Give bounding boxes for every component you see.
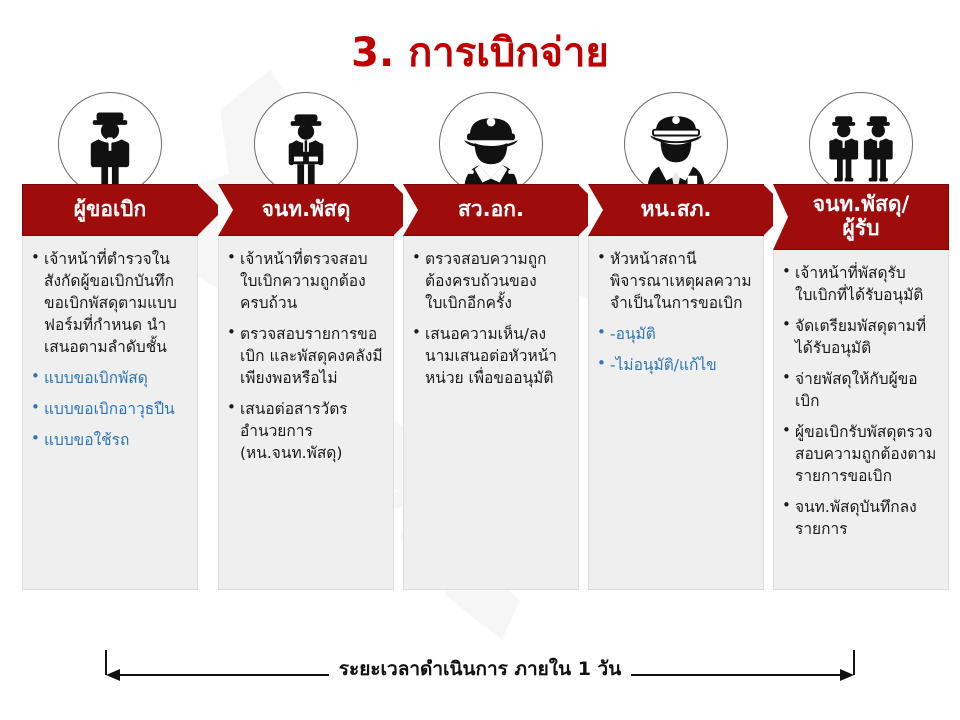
list-item: เสนอต่อสารวัตรอำนวยการ (หน.จนท.พัสดุ) xyxy=(225,398,384,464)
two-police-officers-icon xyxy=(809,92,913,196)
step-4-banner: หน.สภ. xyxy=(588,184,764,236)
step-1-bullet-list: เจ้าหน้าที่ตำรวจในสังกัดผู้ขอเบิกบันทึกข… xyxy=(29,248,188,451)
chevron-notch-icon xyxy=(773,184,788,250)
page-title: 3. การเบิกจ่าย xyxy=(0,30,960,76)
list-item: เจ้าหน้าที่ตรวจสอบใบเบิกความถูกต้องครบถ้… xyxy=(225,248,384,314)
chevron-notch-icon xyxy=(218,184,233,236)
step-1-banner: ผู้ขอเบิก xyxy=(22,184,198,236)
slide-canvas: 3. การเบิกจ่าย xyxy=(0,0,960,720)
step-4-title: หน.สภ. xyxy=(637,198,716,222)
step-5-bullet-list: เจ้าหน้าที่พัสดุรับใบเบิกที่ได้รับอนุมัต… xyxy=(780,262,939,540)
list-item: จัดเตรียมพัสดุตามที่ได้รับอนุมัติ xyxy=(780,315,939,359)
step-3-banner: สว.อก. xyxy=(403,184,579,236)
list-item: ตรวจสอบรายการขอเบิก และพัสดุคงคลังมีเพีย… xyxy=(225,323,384,389)
step-5-banner: จนท.พัสดุ/ ผู้รับ xyxy=(773,184,949,250)
process-step-4: หน.สภ. หัวหน้าสถานีพิจารณาเหตุผลความจำเป… xyxy=(588,92,764,590)
process-step-3: สว.อก. ตรวจสอบความถูกต้องครบถ้วนของใบเบิ… xyxy=(403,92,579,590)
step-3-bullet-list: ตรวจสอบความถูกต้องครบถ้วนของใบเบิกอีกครั… xyxy=(410,248,569,389)
list-item: จ่ายพัสดุให้กับผู้ขอเบิก xyxy=(780,368,939,412)
list-item: เจ้าหน้าที่พัสดุรับใบเบิกที่ได้รับอนุมัต… xyxy=(780,262,939,306)
process-step-2: จนท.พัสดุ เจ้าหน้าที่ตรวจสอบใบเบิกความถู… xyxy=(218,92,394,590)
list-item: ผู้ขอเบิกรับพัสดุตรวจสอบความถูกต้องตามรา… xyxy=(780,421,939,487)
step-4-bullet-list: หัวหน้าสถานีพิจารณาเหตุผลความจำเป็นในการ… xyxy=(595,248,754,376)
step-4-panel: หัวหน้าสถานีพิจารณาเหตุผลความจำเป็นในการ… xyxy=(588,236,764,590)
duration-arrow xyxy=(104,648,856,696)
step-3-panel: ตรวจสอบความถูกต้องครบถ้วนของใบเบิกอีกครั… xyxy=(403,236,579,590)
step-2-panel: เจ้าหน้าที่ตรวจสอบใบเบิกความถูกต้องครบถ้… xyxy=(218,236,394,590)
step-5-title: จนท.พัสดุ/ ผู้รับ xyxy=(809,193,913,240)
police-officer-standing-icon xyxy=(58,92,162,196)
police-officer-belt-icon xyxy=(254,92,358,196)
list-item[interactable]: แบบขอใช้รถ xyxy=(29,429,188,451)
step-2-title: จนท.พัสดุ xyxy=(258,198,355,222)
list-item[interactable]: แบบขอเบิกพัสดุ xyxy=(29,367,188,389)
list-item: จนท.พัสดุบันทึกลงรายการ xyxy=(780,496,939,540)
police-officer-bust-icon xyxy=(439,92,543,196)
list-item[interactable]: แบบขอเบิกอาวุธปืน xyxy=(29,398,188,420)
chevron-notch-icon xyxy=(588,184,603,236)
list-item: ตรวจสอบความถูกต้องครบถ้วนของใบเบิกอีกครั… xyxy=(410,248,569,314)
step-1-panel: เจ้าหน้าที่ตำรวจในสังกัดผู้ขอเบิกบันทึกข… xyxy=(22,236,198,590)
police-chief-badge-icon xyxy=(624,92,728,196)
step-2-banner: จนท.พัสดุ xyxy=(218,184,394,236)
list-item: เสนอความเห็น/ลงนามเสนอต่อหัวหน้าหน่วย เพ… xyxy=(410,323,569,389)
list-item[interactable]: -ไม่อนุมัติ/แก้ไข xyxy=(595,354,754,376)
list-item: หัวหน้าสถานีพิจารณาเหตุผลความจำเป็นในการ… xyxy=(595,248,754,314)
step-5-panel: เจ้าหน้าที่พัสดุรับใบเบิกที่ได้รับอนุมัต… xyxy=(773,250,949,590)
chevron-notch-icon xyxy=(403,184,418,236)
step-2-bullet-list: เจ้าหน้าที่ตรวจสอบใบเบิกความถูกต้องครบถ้… xyxy=(225,248,384,464)
process-step-5: จนท.พัสดุ/ ผู้รับ เจ้าหน้าที่พัสดุรับใบเ… xyxy=(773,92,949,590)
step-3-title: สว.อก. xyxy=(454,198,528,222)
process-step-1: ผู้ขอเบิก เจ้าหน้าที่ตำรวจในสังกัดผู้ขอเ… xyxy=(22,92,198,590)
list-item: เจ้าหน้าที่ตำรวจในสังกัดผู้ขอเบิกบันทึกข… xyxy=(29,248,188,358)
list-item[interactable]: -อนุมัติ xyxy=(595,323,754,345)
step-1-title: ผู้ขอเบิก xyxy=(70,198,151,222)
